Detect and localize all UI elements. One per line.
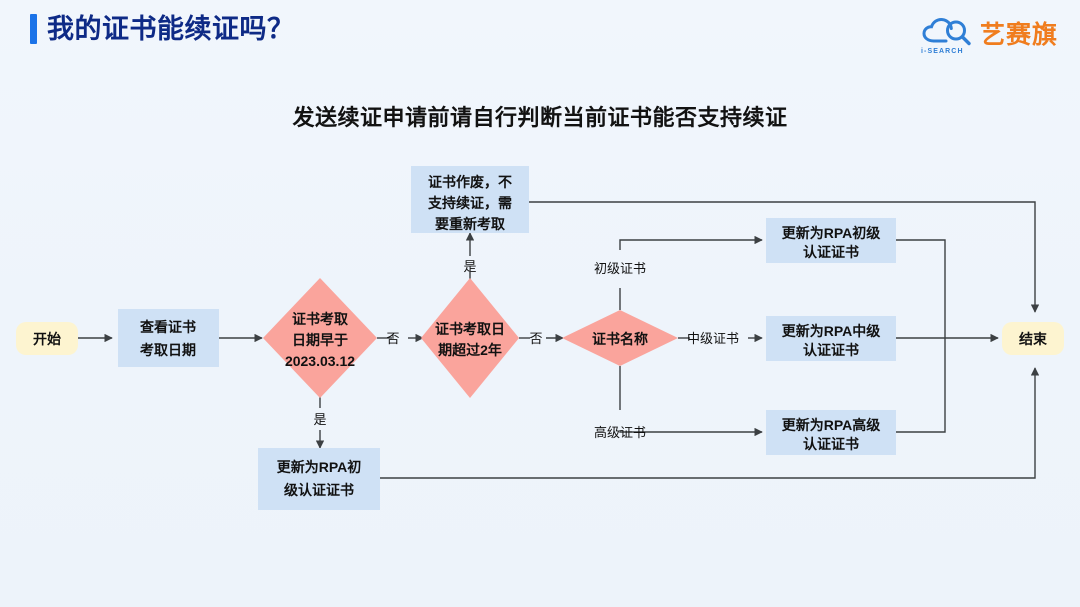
flowchart: 否 是 否 是 初级证书 中级证书 高级证书 开始 查看证书 考取日期 证书考取… xyxy=(0,0,1080,607)
decision-over2y-line2: 期超过2年 xyxy=(438,342,502,358)
check-date-line2: 考取日期 xyxy=(140,342,196,358)
renew-senior-line2: 认证证书 xyxy=(803,436,859,452)
renew-middle-line1: 更新为RPA中级 xyxy=(782,323,882,339)
void-cert-line1: 证书作废，不 xyxy=(428,174,512,190)
edge-label-name-junior: 初级证书 xyxy=(594,261,646,276)
decision-before-line1: 证书考取 xyxy=(292,311,349,327)
node-renew-senior[interactable]: 更新为RPA高级 认证证书 xyxy=(766,410,896,455)
node-decision-before-date[interactable]: 证书考取 日期早于 2023.03.12 xyxy=(263,278,377,398)
node-renew-middle[interactable]: 更新为RPA中级 认证证书 xyxy=(766,316,896,361)
flow-edge-labels: 否 是 否 是 初级证书 中级证书 高级证书 xyxy=(313,259,739,440)
check-date-line1: 查看证书 xyxy=(140,319,196,335)
node-end[interactable]: 结束 xyxy=(1002,322,1064,355)
edge-label-d2-yes: 是 xyxy=(463,259,476,274)
renew-junior-bottom-shape xyxy=(258,448,380,510)
edge-label-name-senior: 高级证书 xyxy=(594,425,646,440)
edge-junior-to-end xyxy=(896,240,945,338)
node-renew-junior-bottom[interactable]: 更新为RPA初 级认证证书 xyxy=(258,448,380,510)
renew-junior-bottom-line2: 级认证证书 xyxy=(284,482,354,498)
renew-junior-bottom-line1: 更新为RPA初 xyxy=(277,459,362,475)
edge-label-d1-no: 否 xyxy=(386,331,399,346)
edge-name-junior-b xyxy=(620,240,762,250)
node-decision-over-2years[interactable]: 证书考取日 期超过2年 xyxy=(421,278,519,398)
decision-over2y-shape xyxy=(421,278,519,398)
decision-over2y-line1: 证书考取日 xyxy=(435,321,505,337)
edge-label-name-middle: 中级证书 xyxy=(687,331,739,346)
cert-name-label: 证书名称 xyxy=(592,331,648,347)
node-renew-junior-top[interactable]: 更新为RPA初级 认证证书 xyxy=(766,218,896,263)
decision-before-line2: 日期早于 xyxy=(292,332,348,348)
decision-before-line3: 2023.03.12 xyxy=(285,353,355,369)
void-cert-line2: 支持续证，需 xyxy=(427,195,512,211)
renew-senior-line1: 更新为RPA高级 xyxy=(782,417,882,433)
check-date-shape xyxy=(118,309,219,367)
node-check-date[interactable]: 查看证书 考取日期 xyxy=(118,309,219,367)
void-cert-line3: 要重新考取 xyxy=(435,216,506,232)
renew-junior-top-line1: 更新为RPA初级 xyxy=(782,225,882,241)
start-label: 开始 xyxy=(33,331,61,347)
node-start[interactable]: 开始 xyxy=(16,322,78,355)
end-label: 结束 xyxy=(1019,331,1048,347)
slide-canvas: 我的证书能续证吗？ i-SEARCH 艺赛旗 发送续证申请前请自行判断当前证书能… xyxy=(0,0,1080,607)
edge-senior-to-end xyxy=(896,338,945,432)
edge-label-d1-yes: 是 xyxy=(313,412,326,427)
node-void-certificate[interactable]: 证书作废，不 支持续证，需 要重新考取 xyxy=(411,166,529,233)
edge-label-d2-no: 否 xyxy=(529,331,542,346)
renew-middle-line2: 认证证书 xyxy=(803,342,859,358)
node-certificate-name[interactable]: 证书名称 xyxy=(562,310,678,366)
renew-junior-top-line2: 认证证书 xyxy=(803,244,859,260)
